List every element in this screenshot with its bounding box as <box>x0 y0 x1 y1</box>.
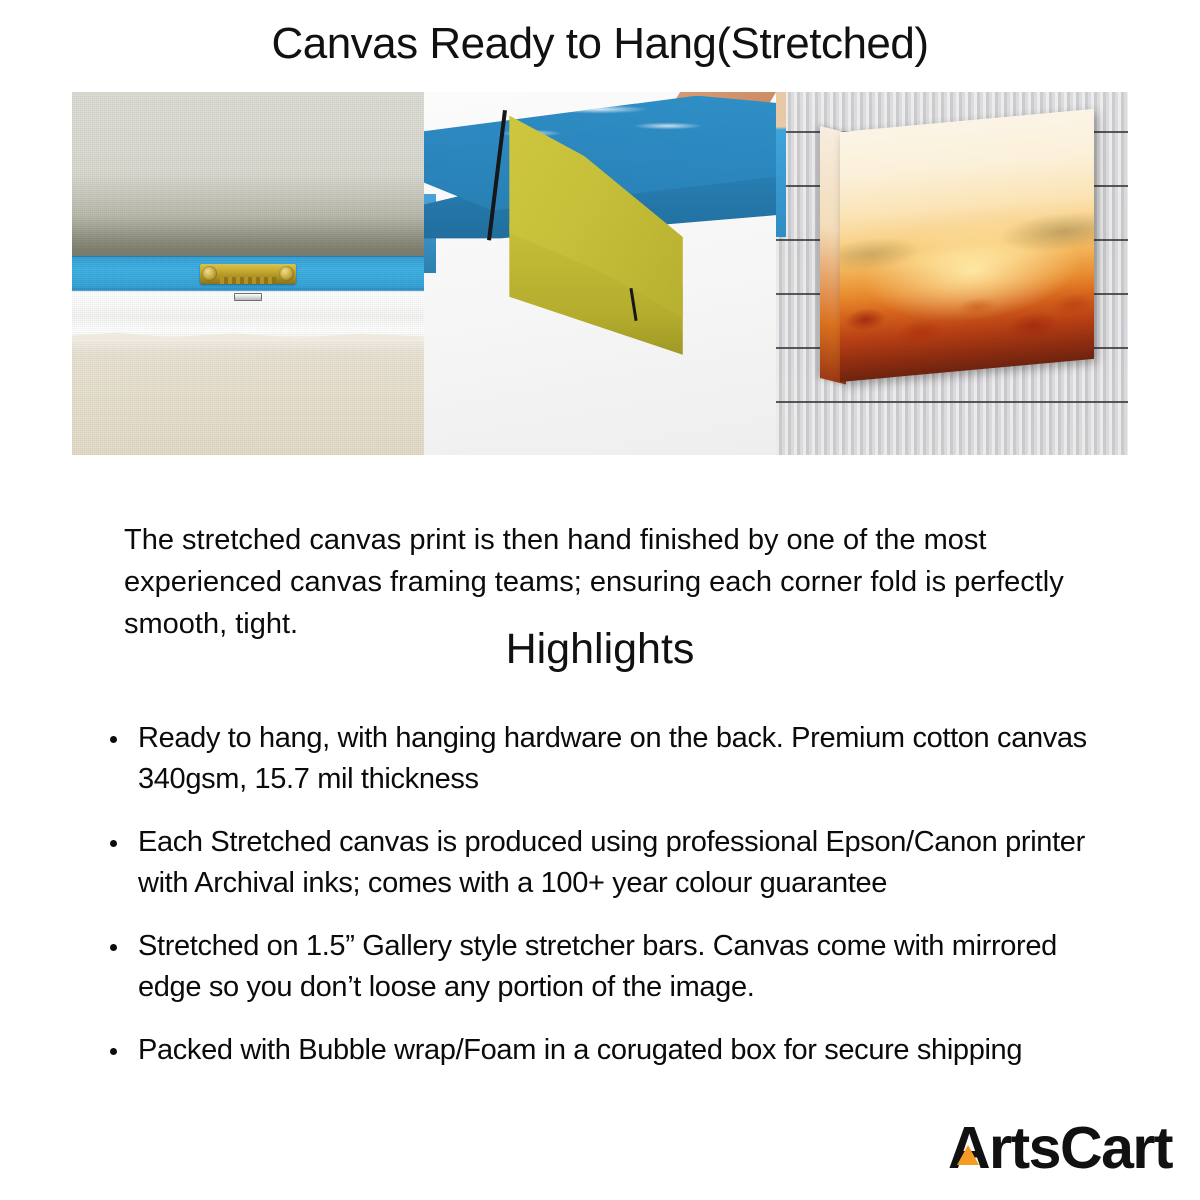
highlights-heading: Highlights <box>0 625 1200 674</box>
metal-clip <box>234 293 262 301</box>
list-item: Stretched on 1.5” Gallery style stretche… <box>104 926 1114 1008</box>
bullet-dot-icon <box>110 736 117 743</box>
list-item-text: Ready to hang, with hanging hardware on … <box>138 722 1087 795</box>
canvas-back-hanging-hardware-image[interactable] <box>72 92 424 455</box>
canvas-corner-fold-image[interactable] <box>424 92 776 455</box>
list-item: Packed with Bubble wrap/Foam in a coruga… <box>104 1030 1114 1071</box>
product-image-gallery <box>72 92 1128 455</box>
list-item-text: Each Stretched canvas is produced using … <box>138 826 1085 899</box>
list-item-text: Packed with Bubble wrap/Foam in a coruga… <box>138 1034 1022 1066</box>
adjacent-image-sliver <box>776 92 786 237</box>
list-item: Each Stretched canvas is produced using … <box>104 822 1114 904</box>
logo-letter-a: A <box>948 1119 989 1178</box>
bullet-dot-icon <box>110 944 117 951</box>
canvas-hung-on-wall-image[interactable] <box>776 92 1128 455</box>
page-title: Canvas Ready to Hang(Stretched) <box>0 0 1200 66</box>
orange-triangle-icon <box>957 1145 979 1165</box>
highlights-list: Ready to hang, with hanging hardware on … <box>104 718 1114 1093</box>
logo-wordmark-rest: rtsCart <box>989 1119 1172 1178</box>
bullet-dot-icon <box>110 840 117 847</box>
sawtooth-teeth <box>220 277 276 284</box>
list-item-text: Stretched on 1.5” Gallery style stretche… <box>138 930 1057 1003</box>
sunset-landscape-print <box>840 109 1094 382</box>
bullet-dot-icon <box>110 1048 117 1055</box>
list-item: Ready to hang, with hanging hardware on … <box>104 718 1114 800</box>
brand-logo: A rtsCart <box>948 1119 1172 1178</box>
